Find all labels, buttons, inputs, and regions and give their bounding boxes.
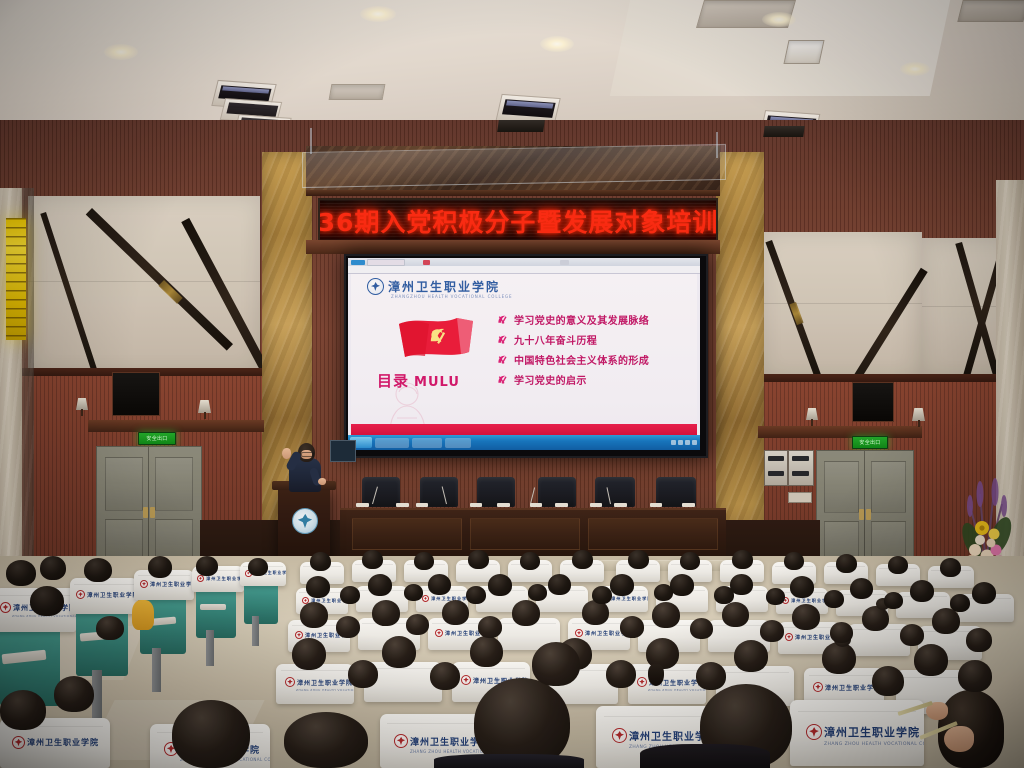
door-header-right <box>758 426 922 438</box>
cover-logo-cn: 漳州卫生职业学院 <box>206 576 244 582</box>
taskbar-item[interactable] <box>445 438 471 448</box>
projector-mount-2 <box>763 126 805 137</box>
attendee-head <box>610 574 634 596</box>
toc-item: 学习党史的启示 <box>497 372 649 387</box>
speaker-hand-2 <box>318 478 326 485</box>
seat-cover: 漳州卫生职业学院 ZHANG ZHOU HEALTH VOCATIONAL CO… <box>628 664 706 704</box>
cover-logo-mark <box>140 580 148 588</box>
name-card <box>650 503 662 507</box>
yellow-wall-light <box>6 218 26 340</box>
cover-logo-mark <box>612 728 627 743</box>
ceiling-vent-2 <box>957 0 1024 22</box>
attendee-head <box>910 580 934 602</box>
taskbar-item[interactable] <box>412 438 442 448</box>
taskbar-item[interactable] <box>375 438 409 448</box>
pillar-stage-right <box>716 152 764 566</box>
projector-mount-1 <box>497 120 545 132</box>
cover-logo: 漳州卫生职业学院 <box>782 597 828 604</box>
wainscot-trim-right <box>756 374 1024 382</box>
attendee-head <box>6 560 36 586</box>
cover-logo-en: ZHANG ZHOU HEALTH VOCATIONAL COLLEGE <box>824 742 924 747</box>
attendee-head <box>680 552 700 570</box>
tray-icon[interactable] <box>685 440 690 445</box>
orange-bag <box>132 600 154 630</box>
cover-logo: 漳州卫生职业学院 <box>813 682 881 692</box>
ceiling-vent-3 <box>329 84 386 100</box>
wall-speaker-left <box>112 372 160 416</box>
attendee-head <box>830 622 853 643</box>
cover-logo: 漳州卫生职业学院 <box>285 677 353 687</box>
attendee-head <box>940 558 961 577</box>
cover-logo-mark <box>12 736 25 749</box>
attendee-head <box>696 662 726 690</box>
stage-monitor <box>330 440 356 462</box>
cover-logo-cn: 漳州卫生职业学院 <box>150 581 194 588</box>
attendee-head <box>690 618 713 639</box>
wall-sconce-left-b <box>198 400 211 413</box>
seat-leg <box>206 630 214 666</box>
attendee-head <box>592 586 612 604</box>
name-card <box>356 503 369 507</box>
cover-logo-mark <box>285 677 295 687</box>
attendee-head <box>836 554 857 573</box>
exit-sign-left-text: 安全出口 <box>146 435 167 442</box>
attendee-head <box>654 584 673 601</box>
toc-item: 中国特色社会主义体系的形成 <box>497 352 649 367</box>
system-tray[interactable] <box>671 440 697 445</box>
attendee-head <box>148 556 172 578</box>
attendee-hand <box>944 726 974 752</box>
cover-logo-mark <box>637 677 647 687</box>
downlight-4 <box>762 12 796 27</box>
door-handle-left[interactable] <box>143 507 148 518</box>
windows-taskbar[interactable] <box>348 435 700 450</box>
cover-logo: 漳州卫生职业学院 <box>806 724 920 740</box>
attendee-head <box>950 594 970 612</box>
name-card <box>614 503 627 507</box>
wall-name-plate <box>788 492 812 503</box>
attendee-head <box>442 600 469 625</box>
window-controls[interactable] <box>560 260 569 265</box>
door-handle-left[interactable] <box>859 509 864 520</box>
attendee-head <box>900 624 924 646</box>
wall-control-panel-b[interactable] <box>788 450 814 486</box>
attendee-head <box>368 574 392 596</box>
attendee-head <box>972 582 996 604</box>
door-panel <box>105 457 143 511</box>
banner-bottom-trim <box>306 240 720 254</box>
attendee-head <box>372 600 400 626</box>
led-banner-text: 第36期入党积极分子暨发展对象培训班 <box>318 203 718 239</box>
toc-item: 学习党史的意义及其发展脉络 <box>497 312 649 327</box>
slide-toc-list: 学习党史的意义及其发展脉络 九十八年奋斗历程 <box>497 312 649 387</box>
cover-logo-cn: 漳州卫生职业学院 <box>791 598 828 604</box>
attendee-head <box>0 690 46 730</box>
attendee-head <box>966 628 992 652</box>
attendee-head <box>620 616 644 638</box>
attendee-head <box>248 558 268 576</box>
seat-leg <box>152 648 161 692</box>
attendee-head <box>430 662 460 690</box>
attendee-head <box>310 552 331 571</box>
attendee-head-foreground <box>172 700 250 768</box>
cover-logo-mark <box>197 575 204 582</box>
attendee-head <box>734 640 768 672</box>
hammer-sickle-bullet-icon <box>497 354 508 365</box>
cover-logo: 漳州卫生职业学院 <box>76 590 138 599</box>
exit-sign-right: 安全出口 <box>852 436 888 449</box>
attendee-head <box>292 638 326 670</box>
name-card <box>530 503 542 507</box>
attendee-head <box>404 584 423 601</box>
name-card <box>555 503 568 507</box>
cover-logo-mark <box>0 602 11 613</box>
slide-heading-en: MULU <box>414 375 460 390</box>
name-card <box>497 503 510 507</box>
door-header-left <box>88 420 264 432</box>
attendee-head <box>850 578 873 599</box>
downlight-1 <box>104 44 138 60</box>
hammer-sickle-bullet-icon <box>497 314 508 325</box>
cover-logo-en: ZHANG ZHOU HEALTH VOCATIONAL COLLEGE <box>648 688 706 692</box>
cover-logo-cn: 漳州卫生职业学院 <box>611 596 648 602</box>
downlight-3 <box>540 36 574 52</box>
attendee-head <box>382 636 416 668</box>
slide-heading: 目录MULU <box>377 370 460 391</box>
wall-sconce-right-b <box>912 408 925 421</box>
attendee-head <box>40 556 66 580</box>
attendee-head <box>520 552 540 570</box>
table-front-panel <box>470 518 580 550</box>
attendee-head <box>784 552 804 570</box>
cover-logo: 漳州卫生职业学院 <box>12 736 99 749</box>
downlight-2 <box>360 6 396 22</box>
attendee-head <box>414 552 434 570</box>
attendee-head <box>300 602 328 628</box>
cover-logo-mark <box>785 633 793 641</box>
cover-logo-mark <box>813 682 823 692</box>
attendee-head-foreground <box>284 712 368 768</box>
slide-footer-bar <box>351 424 697 435</box>
projection-screen-bezel: 漳州卫生职业学院 ZHANGZHOU HEALTH VOCATIONAL COL… <box>344 254 708 458</box>
attendee-head <box>760 620 784 642</box>
attendee-head <box>406 614 429 635</box>
hammer-sickle-bullet-icon <box>497 334 508 345</box>
attendee-head <box>336 616 360 638</box>
tray-icon[interactable] <box>678 440 683 445</box>
banner-top-trim <box>306 190 720 196</box>
speaker-glasses <box>301 452 314 457</box>
attendee-head <box>914 644 948 676</box>
cover-logo-cn: 漳州卫生职业学院 <box>824 724 920 740</box>
cover-logo-en: ZHANG ZHOU HEALTH VOCATIONAL COLLEGE <box>296 688 354 692</box>
attendee-head <box>670 574 694 596</box>
cover-logo-mark <box>76 590 85 599</box>
attendee-head <box>714 586 734 604</box>
table-front-panel <box>588 518 718 550</box>
auditorium-photo: 第36期入党积极分子暨发展对象培训班 漳州卫生职业学院 ZHANGZHOU HE… <box>0 0 1024 768</box>
attendee-head <box>884 592 903 609</box>
attendee-head <box>958 660 992 692</box>
wall-sconce-right-a <box>806 408 818 420</box>
seat-armrest <box>200 604 226 610</box>
cover-logo-mark <box>461 675 471 685</box>
canopy-rod-right <box>716 132 718 158</box>
toc-item-text: 九十八年奋斗历程 <box>514 332 597 347</box>
tray-icon[interactable] <box>671 440 676 445</box>
attendee-shoulders <box>434 754 584 768</box>
led-banner: 第36期入党积极分子暨发展对象培训班 <box>318 198 718 244</box>
attendee-shoulders <box>640 744 770 768</box>
attendee-head <box>872 666 904 696</box>
auditorium-seat[interactable] <box>196 584 236 638</box>
attendee-head <box>932 608 960 634</box>
slide-logo-chinese: 漳州卫生职业学院 <box>388 278 500 295</box>
attendee-head <box>54 676 94 712</box>
cover-logo-mark <box>295 631 303 639</box>
exit-sign-right-text: 安全出口 <box>859 439 880 446</box>
attendee-head <box>96 616 124 640</box>
app-toolbar <box>348 266 700 274</box>
cover-logo-cn: 漳州卫生职业学院 <box>297 678 353 687</box>
attendee-head <box>888 556 908 574</box>
attendee-head <box>790 576 814 598</box>
toc-item-text: 中国特色社会主义体系的形成 <box>514 352 649 367</box>
table-front-panel <box>352 518 462 550</box>
door-panel <box>155 457 193 511</box>
powerpoint-slide: 漳州卫生职业学院 ZHANGZHOU HEALTH VOCATIONAL COL… <box>351 274 697 435</box>
attendee-head <box>466 586 486 604</box>
cover-logo-mark <box>435 629 443 637</box>
cover-logo: 漳州卫生职业学院 <box>637 677 705 687</box>
attendee-head <box>532 642 580 686</box>
ceiling-light-panel <box>783 40 824 64</box>
cover-logo-mark <box>575 629 583 637</box>
name-card <box>590 503 602 507</box>
canopy-rod-left <box>310 128 312 154</box>
attendee-head <box>488 574 512 596</box>
attendee-head <box>606 660 636 688</box>
slide-logo: 漳州卫生职业学院 <box>367 278 500 295</box>
attendee-head <box>628 550 649 569</box>
tray-icon[interactable] <box>692 440 697 445</box>
party-flag-icon <box>395 312 477 364</box>
door-panel <box>824 461 859 513</box>
attendee-head <box>548 574 571 595</box>
cover-logo: 漳州卫生职业学院 <box>197 575 244 582</box>
attendee-head <box>478 616 502 638</box>
wall-speaker-right <box>852 382 894 422</box>
attendee-head <box>348 660 378 688</box>
wall-control-panel-a[interactable] <box>764 450 788 486</box>
seat-cover: 漳州卫生职业学院 <box>70 578 138 614</box>
cover-logo: 漳州卫生职业学院 <box>140 580 194 588</box>
seat-leg <box>252 616 259 646</box>
attendee-head <box>824 590 844 608</box>
toc-item-text: 学习党史的启示 <box>514 372 587 387</box>
exit-sign-left: 安全出口 <box>138 432 176 445</box>
cover-logo-mark <box>394 734 408 748</box>
name-card <box>396 503 409 507</box>
attendee-head <box>84 558 112 582</box>
name-card <box>416 503 428 507</box>
toc-item: 九十八年奋斗历程 <box>497 332 649 347</box>
attendee-head <box>732 550 753 569</box>
attendee-head <box>766 588 785 605</box>
slide-logo-english: ZHANGZHOU HEALTH VOCATIONAL COLLEGE <box>391 294 512 299</box>
downlight-5 <box>900 62 930 76</box>
podium-emblem <box>292 508 318 534</box>
attendee-head <box>306 576 330 598</box>
wall-sconce-left-a <box>76 398 88 410</box>
cover-logo-mark <box>422 595 429 602</box>
attendee-head <box>528 584 547 601</box>
college-logo-icon <box>367 278 384 295</box>
app-tab-2[interactable] <box>423 260 430 265</box>
cover-logo-mark <box>806 724 822 740</box>
attendee-head <box>470 636 503 667</box>
name-card <box>470 503 482 507</box>
attendee-head <box>196 556 218 576</box>
name-card <box>682 503 695 507</box>
attendee-head <box>512 600 540 626</box>
attendee-head <box>340 586 360 604</box>
hammer-sickle-bullet-icon <box>497 374 508 385</box>
door-handle-right[interactable] <box>150 507 155 518</box>
attendee-head <box>652 602 680 628</box>
attendee-head <box>822 642 856 674</box>
attendee-head <box>30 586 64 616</box>
speaker-hand <box>282 448 291 459</box>
attendee-head <box>428 574 451 595</box>
door-panel <box>871 461 906 513</box>
attendee-head <box>572 550 593 569</box>
seat-cover: 漳州卫生职业学院 ZHANG ZHOU HEALTH VOCATIONAL CO… <box>276 664 354 704</box>
app-tab-1[interactable] <box>367 259 405 266</box>
projection-screen[interactable]: 漳州卫生职业学院 ZHANGZHOU HEALTH VOCATIONAL COL… <box>348 258 700 450</box>
attendee-head <box>362 550 383 569</box>
attendee-head <box>468 550 489 569</box>
attendee-head <box>792 604 820 630</box>
door-handle-right[interactable] <box>866 509 871 520</box>
attendee-head <box>722 602 749 627</box>
cover-logo-cn: 漳州卫生职业学院 <box>27 737 99 748</box>
attendee-ponytail <box>648 664 664 686</box>
toc-item-text: 学习党史的意义及其发展脉络 <box>514 312 649 327</box>
app-icon <box>351 260 365 265</box>
slide-heading-cn: 目录 <box>377 372 409 390</box>
cover-logo-cn: 漳州卫生职业学院 <box>87 591 138 599</box>
